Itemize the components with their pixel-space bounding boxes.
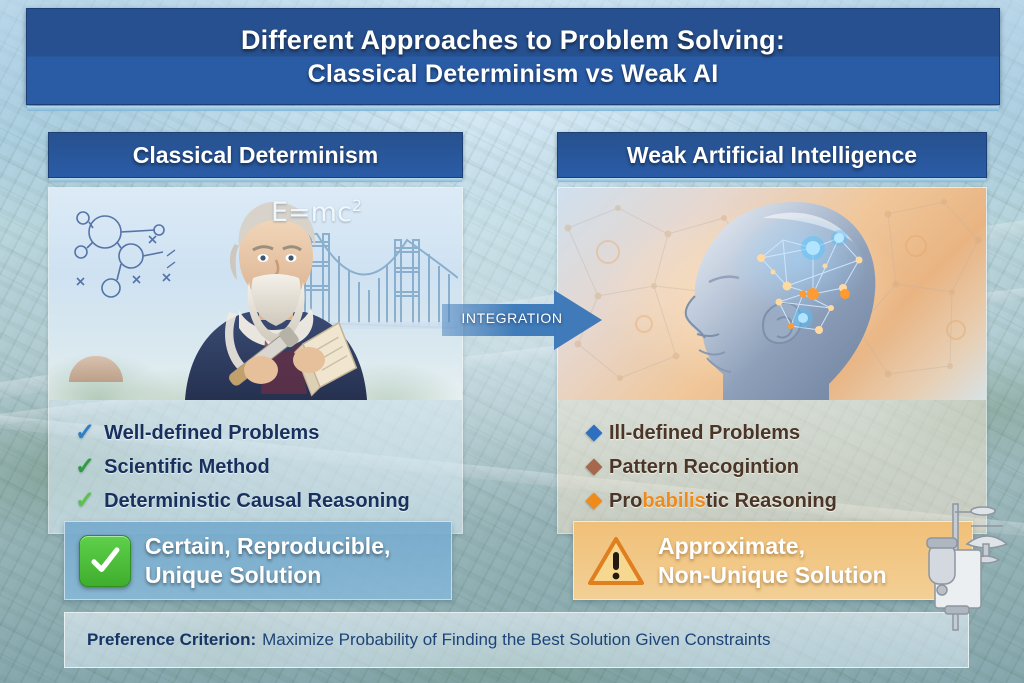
integration-connector: INTEGRATION bbox=[442, 288, 602, 352]
diamond-bullet-icon bbox=[586, 493, 603, 510]
left-artwork: E=mc2 bbox=[49, 188, 462, 400]
list-item: ✓ Deterministic Causal Reasoning bbox=[75, 484, 462, 518]
left-panel-title: Classical Determinism bbox=[133, 142, 378, 169]
integration-label: INTEGRATION bbox=[452, 310, 572, 326]
right-result-text: Approximate, Non-Unique Solution bbox=[658, 532, 887, 590]
diamond-bullet-icon bbox=[586, 459, 603, 476]
diamond-bullet-icon bbox=[586, 425, 603, 442]
list-item: ✓ Well-defined Problems bbox=[75, 416, 462, 450]
right-panel-header: Weak Artificial Intelligence bbox=[557, 132, 987, 178]
right-panel-title: Weak Artificial Intelligence bbox=[627, 142, 917, 169]
result-line-1: Certain, Reproducible, bbox=[145, 532, 390, 561]
green-check-box-icon bbox=[79, 535, 131, 587]
bullet-label: Pattern Recogintion bbox=[609, 456, 799, 479]
list-item: Pattern Recogintion bbox=[584, 450, 986, 484]
weather-station-icon bbox=[905, 498, 1017, 636]
bullet-label: Scientific Method bbox=[104, 456, 270, 479]
right-artwork bbox=[558, 188, 986, 400]
footer-text: Maximize Probability of Finding the Best… bbox=[262, 630, 770, 650]
footer-label: Preference Criterion: bbox=[87, 630, 256, 650]
left-panel-body: E=mc2 ✓ Well-defined Problems ✓ Scientif… bbox=[48, 187, 463, 534]
left-bullet-list: ✓ Well-defined Problems ✓ Scientific Met… bbox=[49, 400, 462, 533]
result-line-1: Approximate, bbox=[658, 532, 887, 561]
formula-label: E=mc2 bbox=[271, 196, 362, 228]
weak-ai-panel: Weak Artificial Intelligence bbox=[557, 132, 987, 534]
result-line-2: Unique Solution bbox=[145, 561, 390, 590]
title-line-1: Different Approaches to Problem Solving: bbox=[241, 23, 785, 57]
title-line-2: Classical Determinism vs Weak AI bbox=[308, 57, 719, 91]
main-title-bar: Different Approaches to Problem Solving:… bbox=[26, 8, 1000, 105]
bullet-label: Ill-defined Problems bbox=[609, 422, 800, 445]
infographic-canvas: Different Approaches to Problem Solving:… bbox=[0, 0, 1024, 683]
check-icon: ✓ bbox=[75, 489, 95, 513]
footer-bar: Preference Criterion: Maximize Probabili… bbox=[64, 612, 969, 668]
result-line-2: Non-Unique Solution bbox=[658, 561, 887, 590]
bullet-label: Deterministic Causal Reasoning bbox=[104, 490, 410, 513]
left-panel-header: Classical Determinism bbox=[48, 132, 463, 178]
check-glyph bbox=[88, 544, 122, 578]
human-head-neural-network bbox=[653, 198, 903, 400]
right-panel-body: Ill-defined Problems Pattern Recogintion… bbox=[557, 187, 987, 534]
warning-triangle-icon bbox=[588, 536, 644, 586]
left-result-box: Certain, Reproducible, Unique Solution bbox=[64, 521, 452, 600]
check-icon: ✓ bbox=[75, 455, 95, 479]
molecule-diagram-icon bbox=[63, 200, 193, 320]
check-icon: ✓ bbox=[75, 421, 95, 445]
list-item: Ill-defined Problems bbox=[584, 416, 986, 450]
list-item: ✓ Scientific Method bbox=[75, 450, 462, 484]
bullet-label: Well-defined Problems bbox=[104, 422, 319, 445]
classical-determinism-panel: Classical Determinism bbox=[48, 132, 463, 534]
bullet-label: Probabilistic Reasoning bbox=[609, 490, 837, 513]
left-result-text: Certain, Reproducible, Unique Solution bbox=[145, 532, 390, 590]
